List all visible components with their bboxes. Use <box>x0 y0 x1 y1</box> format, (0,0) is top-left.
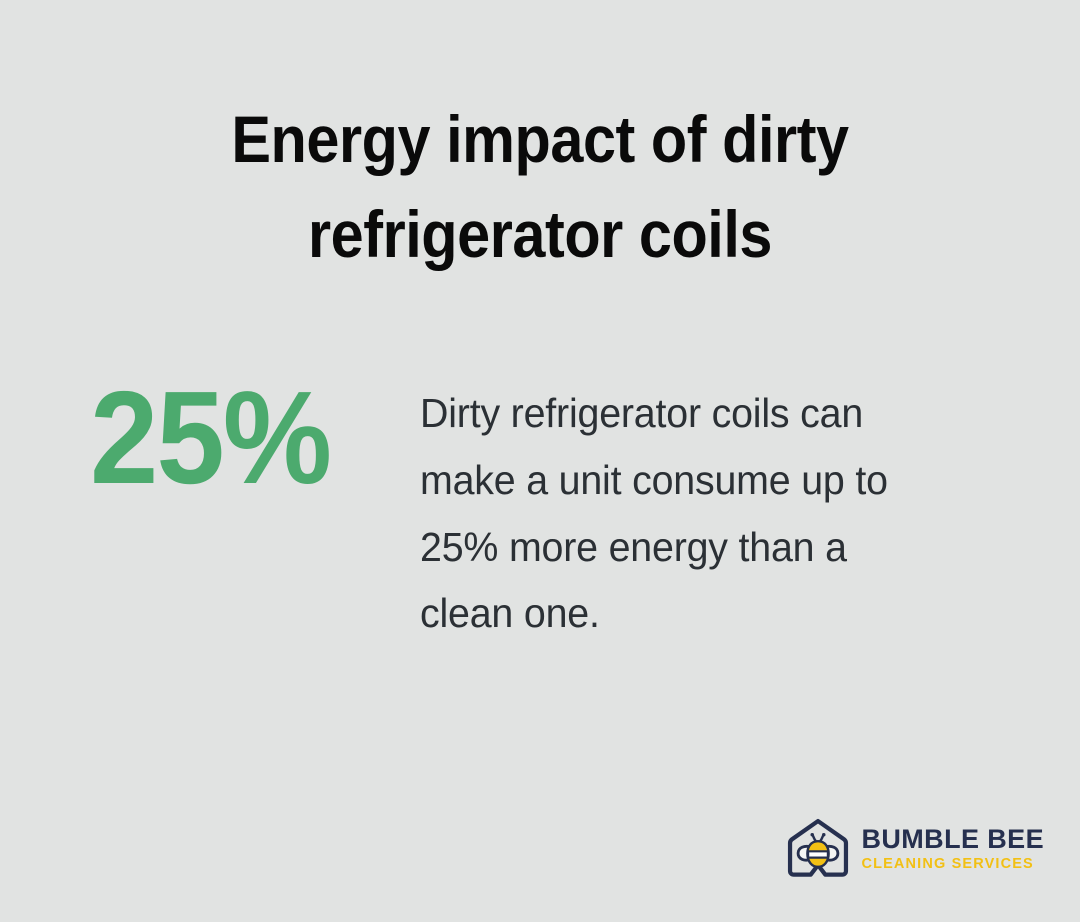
brand-logo[interactable]: BUMBLE BEE CLEANING SERVICES <box>785 816 1044 882</box>
infographic-canvas: Energy impact of dirty refrigerator coil… <box>0 0 1080 922</box>
statistic-figure-container: 25% <box>0 366 420 504</box>
brand-name: BUMBLE BEE <box>861 826 1044 853</box>
brand-logo-wordmark: BUMBLE BEE CLEANING SERVICES <box>861 826 1044 872</box>
brand-tagline: CLEANING SERVICES <box>861 857 1044 872</box>
house-bee-icon-svg <box>785 816 851 882</box>
statistic-description: Dirty refrigerator coils can make a unit… <box>420 380 950 647</box>
house-bee-icon <box>785 816 851 882</box>
page-title: Energy impact of dirty refrigerator coil… <box>108 92 972 282</box>
statistic-row: 25% Dirty refrigerator coils can make a … <box>0 366 1080 647</box>
statistic-percentage: 25% <box>90 372 330 504</box>
statistic-description-container: Dirty refrigerator coils can make a unit… <box>420 366 1080 647</box>
title-block: Energy impact of dirty refrigerator coil… <box>60 92 1020 282</box>
